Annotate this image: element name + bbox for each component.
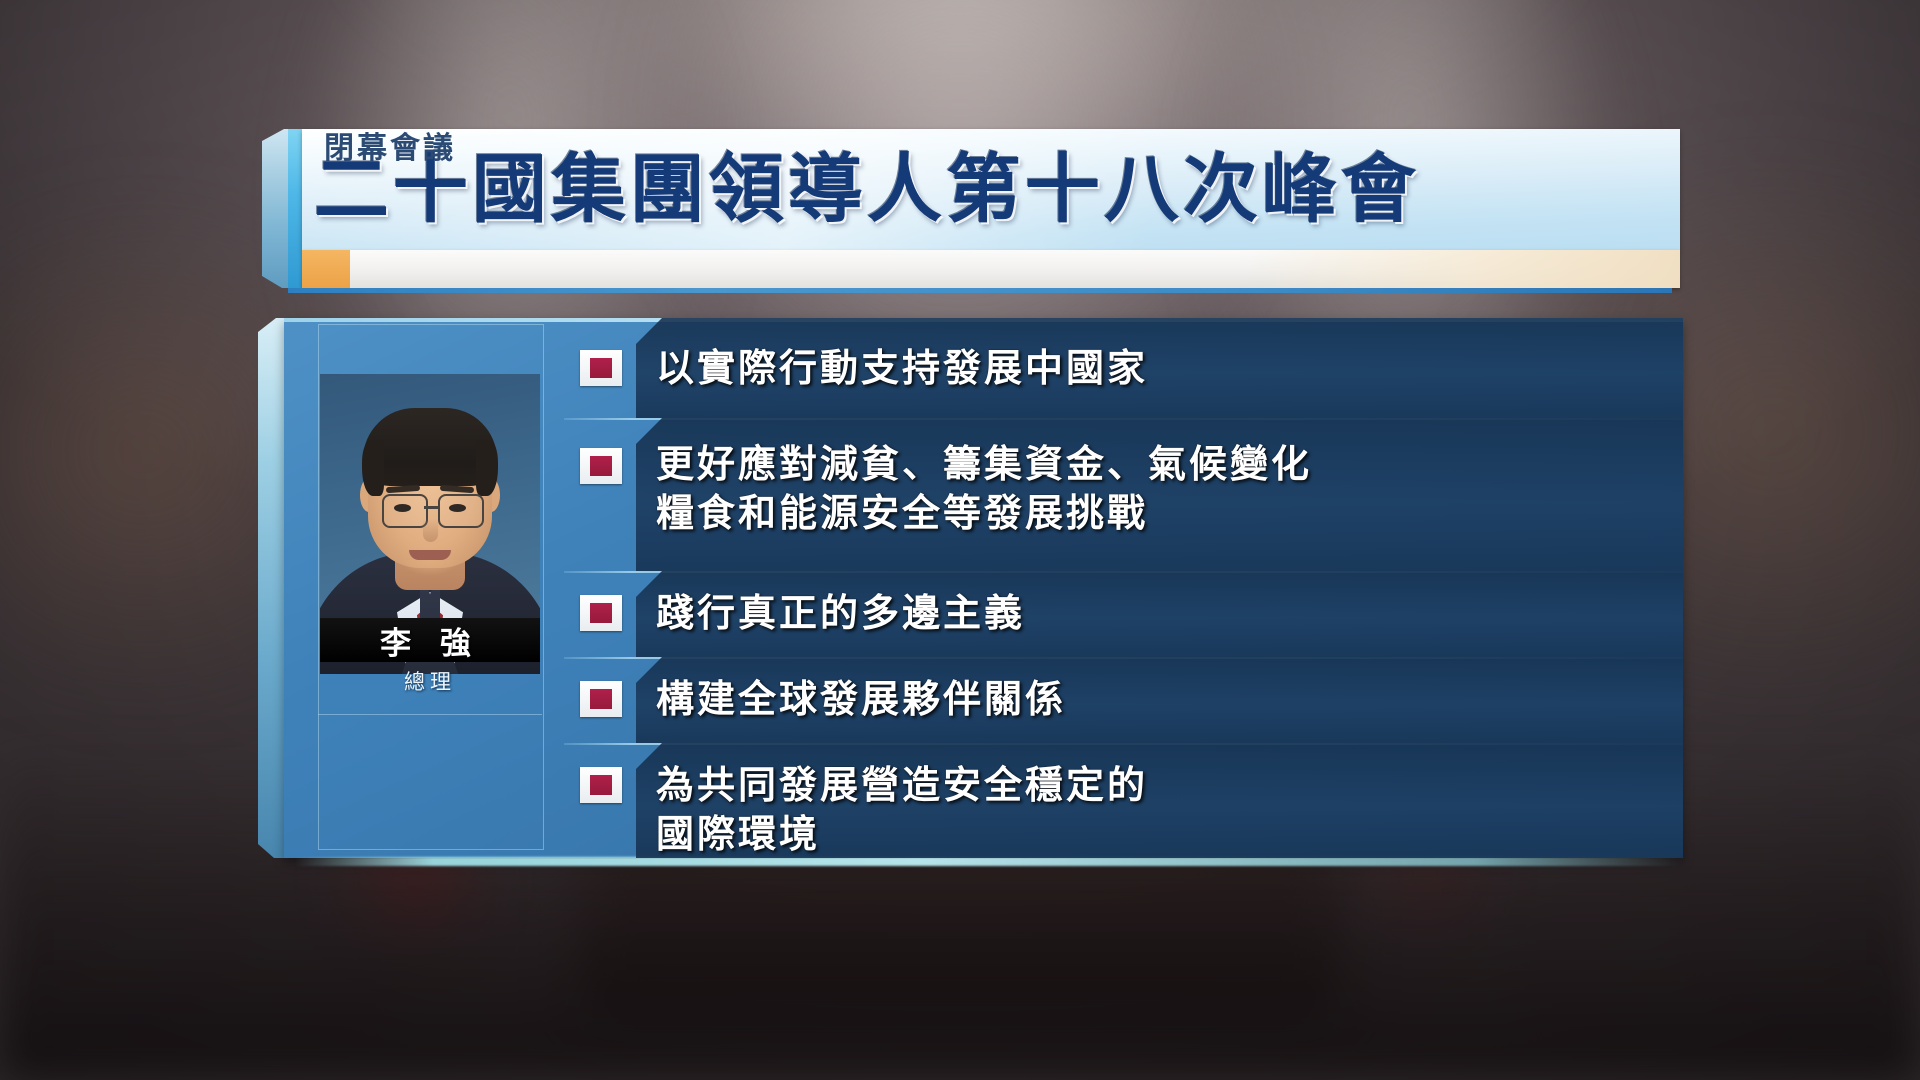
panel-body: 李 強 總理 以實際行動支持發展中國家 xyxy=(284,318,1683,858)
portrait-glasses-bridge xyxy=(424,506,438,509)
list-item-text: 更好應對減貧、籌集資金、氣候變化 糧食和能源安全等發展挑戰 xyxy=(656,440,1667,538)
speaker-title: 總理 xyxy=(404,666,456,696)
list-item: 以實際行動支持發展中國家 xyxy=(564,318,1683,418)
speaker-title-plate: 總理 xyxy=(320,664,540,698)
portrait-hair-left xyxy=(362,440,384,496)
list-item: 更好應對減貧、籌集資金、氣候變化 糧食和能源安全等發展挑戰 xyxy=(564,418,1683,571)
header-underline xyxy=(288,288,1672,293)
header-subtitle-bar xyxy=(302,250,1680,288)
list-item-text: 踐行真正的多邊主義 xyxy=(656,589,1667,638)
header-subtitle-fade xyxy=(1240,250,1680,288)
list-item-text: 以實際行動支持發展中國家 xyxy=(656,344,1667,393)
bullet-square-icon xyxy=(580,350,622,386)
header-banner: 二十國集團領導人第十八次峰會 閉幕會議 xyxy=(262,129,1680,288)
orange-marker-icon xyxy=(302,250,350,288)
speaker-name: 李 強 xyxy=(380,618,480,663)
bullet-square-icon xyxy=(580,767,622,803)
portrait-nose xyxy=(423,518,438,542)
list-item-text: 為共同發展營造安全穩定的 國際環境 xyxy=(656,761,1667,859)
broadcast-graphic: 二十國集團領導人第十八次峰會 閉幕會議 xyxy=(0,0,1920,1080)
speaker-column-divider xyxy=(318,714,542,715)
header-cyan-edge xyxy=(288,129,302,288)
bullet-square-icon xyxy=(580,595,622,631)
portrait-glasses-left xyxy=(382,494,428,528)
header-subtitle: 閉幕會議 xyxy=(324,130,456,168)
list-item: 構建全球發展夥伴關係 xyxy=(564,657,1683,743)
portrait-hair-right xyxy=(476,440,498,496)
bullet-square-icon xyxy=(580,681,622,717)
portrait-chin xyxy=(400,560,460,576)
page-title: 二十國集團領導人第十八次峰會 xyxy=(314,139,1420,239)
portrait-mouth xyxy=(409,550,451,560)
speaker-name-plate: 李 強 xyxy=(320,618,540,662)
bullet-square-icon xyxy=(580,448,622,484)
content-panel: 李 強 總理 以實際行動支持發展中國家 xyxy=(258,318,1683,858)
list-item: 踐行真正的多邊主義 xyxy=(564,571,1683,657)
speaker-column: 李 強 總理 xyxy=(310,318,555,858)
list-item: 為共同發展營造安全穩定的 國際環境 xyxy=(564,743,1683,858)
list-item-text: 構建全球發展夥伴關係 xyxy=(656,675,1667,724)
key-points-list: 以實際行動支持發展中國家 更好應對減貧、籌集資金、氣候變化 糧食和能源安全等發展… xyxy=(564,318,1683,858)
portrait-glasses-right xyxy=(438,494,484,528)
